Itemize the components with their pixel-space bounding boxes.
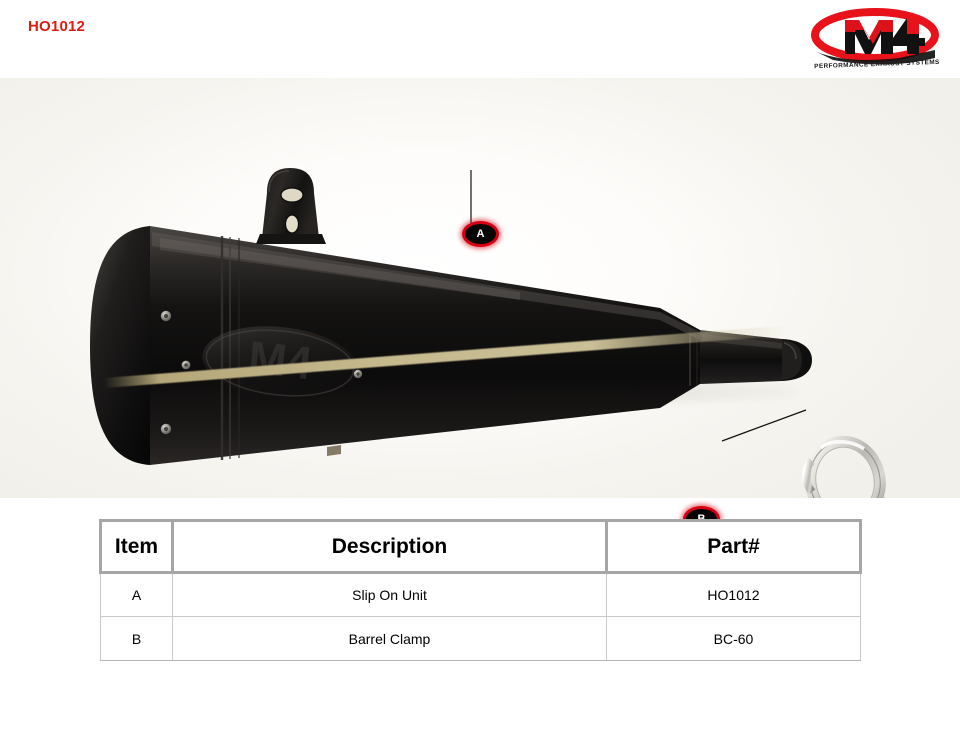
parts-diagram-page: HO1012 P [0, 0, 960, 729]
cell-description: Barrel Clamp [173, 617, 607, 661]
logo-tagline: PERFORMANCE EXHAUST SYSTEMS [814, 59, 940, 70]
parts-table: Item Description Part# A Slip On Unit HO… [99, 519, 862, 661]
callout-badge-a[interactable]: A [462, 221, 499, 247]
muffler-group: M4 [0, 78, 960, 498]
m4-logo: PERFORMANCE EXHAUST SYSTEMS [807, 8, 947, 70]
exhaust-product-photo: M4 [0, 78, 960, 498]
table-row: A Slip On Unit HO1012 [101, 573, 861, 617]
cell-item: A [101, 573, 173, 617]
cell-part: HO1012 [607, 573, 861, 617]
column-header-item: Item [101, 521, 173, 573]
cell-part: BC-60 [607, 617, 861, 661]
column-header-description: Description [173, 521, 607, 573]
barrel-clamp [0, 78, 960, 498]
table-row: B Barrel Clamp BC-60 [101, 617, 861, 661]
table-header-row: Item Description Part# [101, 521, 861, 573]
column-header-part: Part# [607, 521, 861, 573]
cell-item: B [101, 617, 173, 661]
cell-description: Slip On Unit [173, 573, 607, 617]
page-title: HO1012 [28, 18, 85, 35]
